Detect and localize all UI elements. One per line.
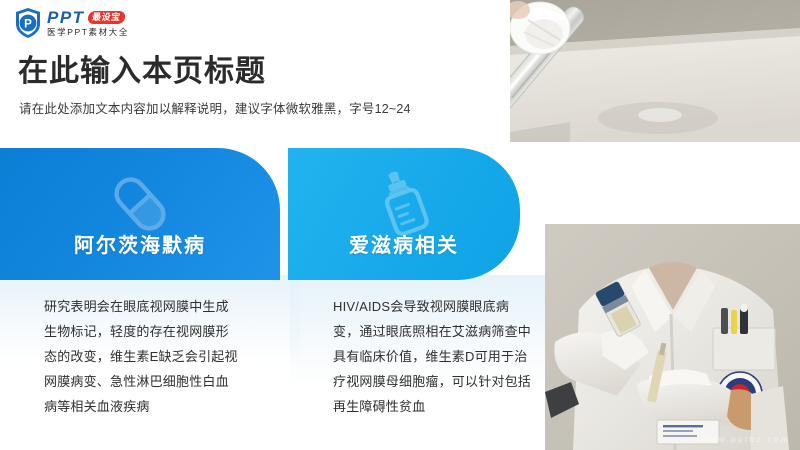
dropper-pipette-illustration: [510, 0, 800, 142]
dropper-pipette-photo: [510, 0, 800, 142]
body-text-left: 研究表明会在眼底视网膜中生成生物标记，轻度的存在视网膜形态的改变，维生素E缺乏会…: [44, 294, 240, 419]
card-alzheimer[interactable]: 阿尔茨海默病: [0, 148, 280, 280]
card-aids[interactable]: 爱滋病相关: [288, 148, 520, 280]
svg-text:P: P: [24, 19, 32, 31]
slide-canvas: www.pptbz.com P PPT 最设宝 医学PPT素材大全 在此输入本页…: [0, 0, 800, 450]
card-alzheimer-label: 阿尔茨海默病: [0, 229, 280, 258]
site-logo[interactable]: P PPT 最设宝 医学PPT素材大全: [14, 6, 129, 40]
doctor-holding-vial-photo: www.pptbz.com: [545, 224, 800, 450]
logo-tagline: 医学PPT素材大全: [47, 27, 129, 38]
doctor-holding-vial-illustration: [545, 224, 800, 450]
card-aids-label: 爱滋病相关: [288, 229, 520, 258]
logo-wordmark: PPT: [47, 9, 85, 26]
photo-separator: [510, 142, 800, 224]
logo-badge: 最设宝: [87, 11, 125, 24]
watermark-text: www.pptbz.com: [702, 434, 790, 444]
shield-p-icon: P: [14, 7, 42, 39]
shield-icon: P: [14, 7, 42, 39]
page-title: 在此输入本页标题: [18, 54, 266, 90]
page-subtitle: 请在此处添加文本内容加以解释说明，建议字体微软雅黑，字号12~24: [19, 100, 411, 118]
body-text-right: HIV/AIDS会导致视网膜眼底病变，通过眼底照相在艾滋病筛查中具有临床价值，维…: [333, 294, 531, 419]
